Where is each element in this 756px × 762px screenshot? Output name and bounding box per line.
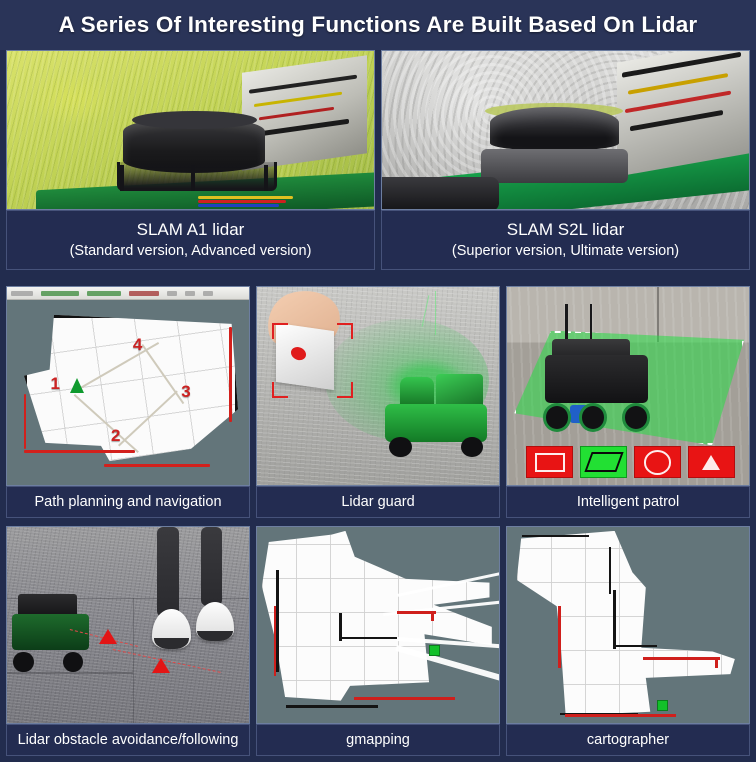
wall-detection <box>431 611 434 621</box>
tracking-bracket-bl <box>272 382 288 398</box>
a1-lidar-unit <box>117 117 271 191</box>
waypoint-2: 2 <box>111 426 120 446</box>
red-marker-dot <box>291 346 306 361</box>
wall-detection <box>643 657 720 660</box>
obstacle-marker <box>152 658 170 673</box>
robot-pose-arrow <box>70 378 84 393</box>
wall-detection <box>565 714 676 717</box>
antenna <box>590 304 593 339</box>
robot-wheel <box>579 403 607 432</box>
caption-obstacle-avoidance: Lidar obstacle avoidance/following <box>6 724 250 756</box>
caption-cartographer: cartographer <box>506 724 750 756</box>
lidar-rotor <box>490 107 619 151</box>
slam-a1-title: SLAM A1 lidar <box>137 219 245 241</box>
lidar-housing <box>481 149 628 183</box>
robot-wheel <box>622 403 650 432</box>
slam-a1-lidar-photo <box>6 50 375 210</box>
wall-detection <box>558 606 561 669</box>
slam-s2l-title: SLAM S2L lidar <box>507 219 624 241</box>
caption-gmapping: gmapping <box>256 724 500 756</box>
rviz-toolbar[interactable] <box>7 287 249 300</box>
shape-button-circle[interactable] <box>634 446 681 478</box>
page-title: A Series Of Interesting Functions Are Bu… <box>59 12 698 38</box>
caption-slam-a1: SLAM A1 lidar (Standard version, Advance… <box>6 210 375 270</box>
waypoint-4: 4 <box>133 335 142 355</box>
wall-detection <box>354 697 456 700</box>
card-slam-s2l[interactable]: SLAM S2L lidar (Superior version, Ultima… <box>381 50 750 278</box>
rviz-path-planning-map: 1 2 3 4 <box>6 286 250 486</box>
circle-icon <box>644 450 671 475</box>
lidar-following-photo <box>6 526 250 724</box>
row-lidar-products: SLAM A1 lidar (Standard version, Advance… <box>0 50 756 278</box>
caption-intelligent-patrol: Intelligent patrol <box>506 486 750 518</box>
row-functions-1: 1 2 3 4 Path planning and navigation <box>0 286 756 524</box>
antenna <box>565 304 568 339</box>
lidar-mount <box>117 162 277 191</box>
tracking-bracket-tl <box>272 323 288 339</box>
card-intelligent-patrol[interactable]: Intelligent patrol <box>506 286 750 524</box>
triangle-icon <box>699 452 723 472</box>
shape-selector-bar[interactable] <box>526 447 734 477</box>
wall-detection <box>274 606 277 677</box>
page-header: A Series Of Interesting Functions Are Bu… <box>0 0 756 50</box>
slam-a1-subtitle: (Standard version, Advanced version) <box>70 241 312 261</box>
wall-seam <box>657 287 659 342</box>
slam-s2l-lidar-photo <box>381 50 750 210</box>
patrol-robot <box>541 327 652 430</box>
robot-wheel <box>461 437 483 457</box>
depth-camera <box>381 177 499 210</box>
card-cartographer[interactable]: cartographer <box>506 526 750 756</box>
parallelogram-icon <box>584 452 623 472</box>
tracking-bracket-br <box>337 382 353 398</box>
robot-wheel <box>389 437 411 457</box>
lidar-guard-photo <box>256 286 500 486</box>
robot-position-marker <box>657 700 668 711</box>
slam-s2l-subtitle: (Superior version, Ultimate version) <box>452 241 679 261</box>
tracking-bracket-tr <box>337 323 353 339</box>
robot-chassis <box>545 355 647 402</box>
row-functions-2: Lidar obstacle avoidance/following <box>0 526 756 756</box>
following-robot <box>12 594 89 673</box>
person-leg <box>157 527 179 617</box>
cartographer-occupancy-map <box>506 526 750 724</box>
card-lidar-guard[interactable]: Lidar guard <box>256 286 500 524</box>
robot-position-marker <box>429 645 440 656</box>
s2l-lidar-unit <box>481 103 628 183</box>
caption-path-planning: Path planning and navigation <box>6 486 250 518</box>
intelligent-patrol-photo <box>506 286 750 486</box>
person-leg <box>201 527 223 606</box>
robot-wheel <box>13 652 33 672</box>
card-gmapping[interactable]: gmapping <box>256 526 500 756</box>
poster-root: A Series Of Interesting Functions Are Bu… <box>0 0 756 762</box>
caption-lidar-guard: Lidar guard <box>256 486 500 518</box>
shape-button-parallelogram[interactable] <box>580 446 627 478</box>
waypoint-1: 1 <box>51 374 60 394</box>
robot-wheel <box>63 652 83 672</box>
caption-slam-s2l: SLAM S2L lidar (Superior version, Ultima… <box>381 210 750 270</box>
card-path-planning[interactable]: 1 2 3 4 Path planning and navigation <box>6 286 250 524</box>
card-obstacle-avoidance[interactable]: Lidar obstacle avoidance/following <box>6 526 250 756</box>
gmapping-occupancy-map <box>256 526 500 724</box>
shape-button-rectangle[interactable] <box>526 446 573 478</box>
wall-detection <box>715 657 718 669</box>
shape-button-triangle[interactable] <box>688 446 735 478</box>
robot-highlighted <box>385 374 487 457</box>
waypoint-3: 3 <box>181 382 190 402</box>
card-slam-a1[interactable]: SLAM A1 lidar (Standard version, Advance… <box>6 50 375 278</box>
obstacle-marker <box>99 629 117 644</box>
rectangle-icon <box>535 453 565 472</box>
robot-wheel <box>543 403 571 432</box>
